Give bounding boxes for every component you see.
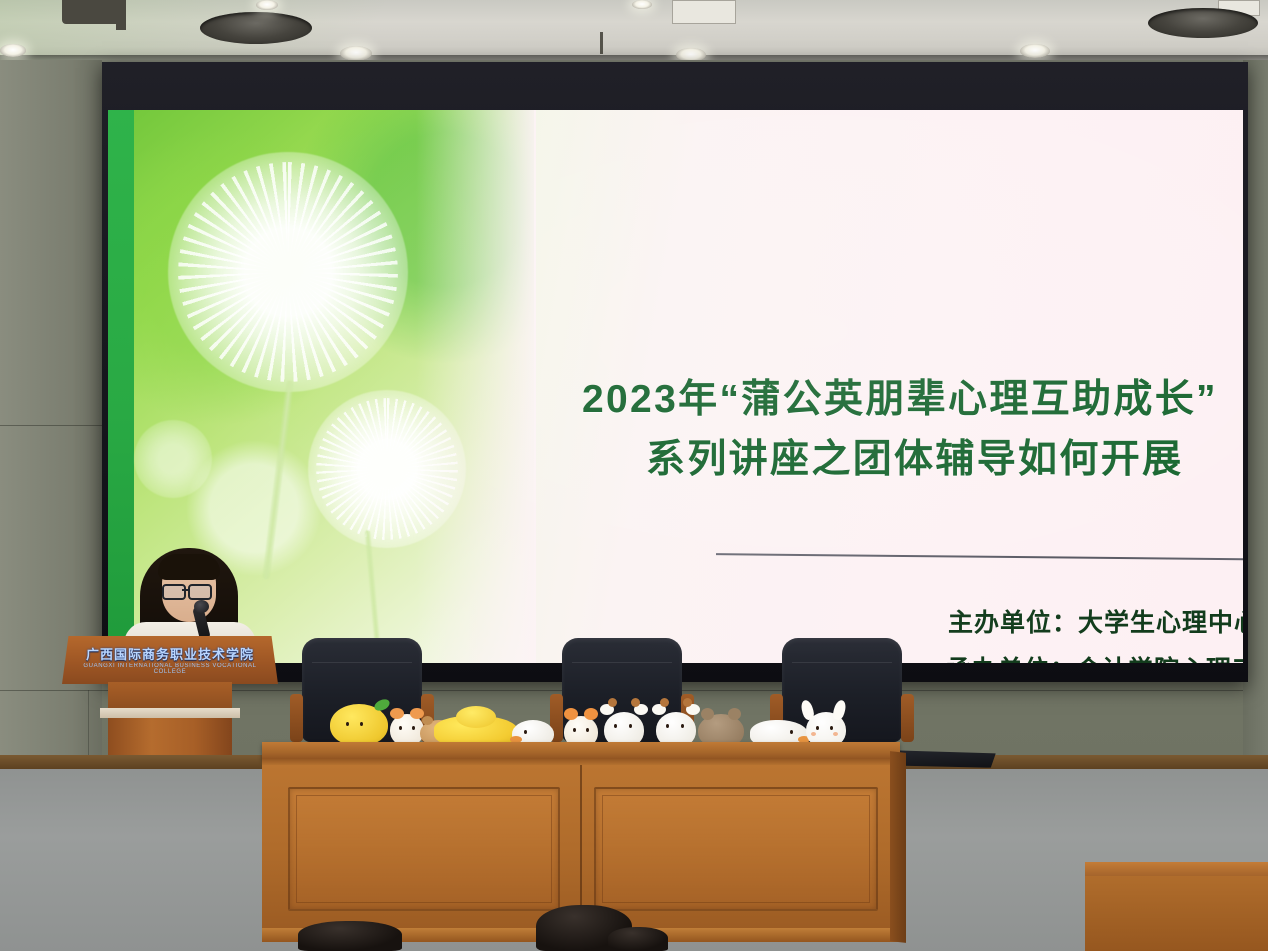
lectern-institution-name-en: GUANGXI INTERNATIONAL BUSINESS VOCATIONA… [76,663,264,675]
lectern-neck [108,682,232,710]
slide-host-organization: 主办单位：大学生心理中心 [948,603,1243,639]
plush-eye-left [614,724,617,728]
plush-ear-left [564,708,578,720]
presenter-fringe [158,554,220,580]
plush-ear-left [701,708,714,720]
plush-eye [524,730,527,734]
plush-white-cow-right [652,698,700,748]
ceiling [0,0,1268,62]
plush-head [456,706,496,728]
audience-head-3 [608,927,668,951]
audience-head-1 [298,921,402,951]
plush-ear-left [799,699,815,721]
ceiling-downlight-6 [1020,44,1050,58]
chair-armrest-left [290,694,303,742]
microphone-head [194,600,209,613]
plush-eye-left [573,728,576,732]
plush-eye-right [412,726,415,730]
lectern-band [100,708,240,718]
plush-eye-left [346,722,349,726]
ceiling-fixture-box [62,0,120,24]
chair-armrest-right [901,694,914,742]
plush-horn-left [608,698,617,707]
plush-eye-right [681,724,684,728]
plush-eye-right [830,726,833,730]
slide-divider-rule [716,553,1243,561]
presentation-slide: 2023年“蒲公英朋辈心理互助成长” 系列讲座之团体辅导如何开展 主办单位：大学… [108,110,1243,663]
plush-eye-right [586,728,589,732]
ceiling-bracket [116,0,126,30]
ceiling-downlight-2 [632,0,652,9]
side-desk-front [1085,876,1268,951]
eyeglasses-right-lens [188,584,212,600]
dandelion-faint [134,420,212,498]
dandelion-small-seeds [316,398,458,540]
plush-ear-right [584,708,598,720]
ceiling-speaker-right [1148,8,1258,38]
ceiling-hanger-rod [600,32,603,54]
plush-ear-right [728,708,741,720]
plush-white-rabbit [800,700,852,748]
slide-title-line2: 系列讲座之团体辅导如何开展 [646,428,1183,484]
dandelion-stem-1 [262,380,294,579]
lectern-institution-name-cn: 广西国际商务职业技术学院 [76,644,264,662]
plush-horn-right [631,698,640,707]
eyeglasses-bridge [182,589,190,591]
eyeglasses-left-lens [162,584,186,600]
ceiling-downlight-1 [256,0,278,10]
plush-eye-left [816,726,819,730]
slide-coorganizer: 承办单位：会计学院心理工作站 [946,650,1243,663]
ceiling-speaker-left [200,12,312,44]
table-right-side [890,751,906,943]
plush-eye-left [666,724,669,728]
wall-panel-seam-1 [0,425,102,426]
plush-horn-right [683,698,692,707]
ceiling-downlight-4 [340,46,372,61]
plush-ear [422,716,433,725]
plush-horn-left [660,698,669,707]
dandelion-large-seeds [178,162,398,382]
plush-ear-left [390,708,404,719]
plush-cheek-left [811,732,816,736]
plush-yellow-lemon-duck [330,700,390,746]
plush-cheek-right [833,732,838,736]
plush-eye-left [399,726,402,730]
plush-white-cow-left [600,698,648,748]
plush-ear-right [831,699,847,721]
ceiling-downlight-3 [0,44,26,57]
plush-eye-right [360,722,363,726]
plush-eye [790,730,793,734]
plush-eye-right [629,724,632,728]
lecture-hall-photo: 2023年“蒲公英朋辈心理互助成长” 系列讲座之团体辅导如何开展 主办单位：大学… [0,0,1268,951]
table-panel-right [594,787,878,911]
ceiling-projector-mount [672,0,736,24]
slide-title-line1: 2023年“蒲公英朋辈心理互助成长” [582,368,1218,424]
table-panel-left [288,787,560,911]
table-lip [262,758,900,765]
side-desk [1085,862,1268,951]
